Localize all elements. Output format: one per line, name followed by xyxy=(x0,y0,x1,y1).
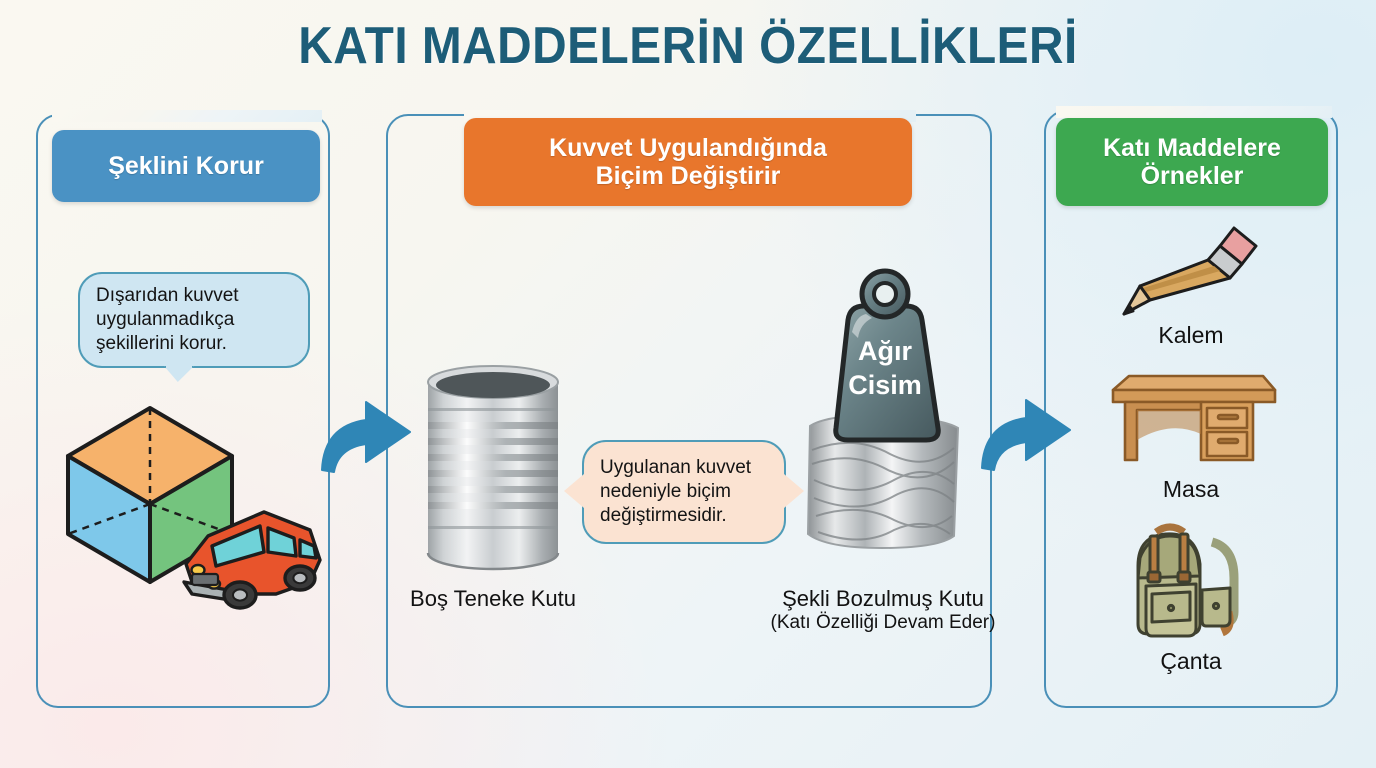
example-item-canta: Çanta xyxy=(1044,520,1338,675)
badge-bicim-degistirir: Kuvvet Uygulandığında Biçim Değiştirir xyxy=(464,118,912,206)
badge-ornekler-line2: Örnekler xyxy=(1103,162,1281,191)
speech-bubble-bicim-degistirir: Uygulanan kuvvet nedeniyle biçim değişti… xyxy=(582,440,786,544)
example-item-kalem: Kalem xyxy=(1044,222,1338,349)
page-title: KATI MADDELERİN ÖZELLİKLERİ xyxy=(55,16,1321,76)
badge-ornekler: Katı Maddelere Örnekler xyxy=(1056,118,1328,206)
label-bos-teneke-kutu-text: Boş Teneke Kutu xyxy=(378,586,608,612)
speech-bubble-sekli-korur: Dışarıdan kuvvet uygulanmadıkça şekiller… xyxy=(78,272,310,368)
badge-ornekler-line1: Katı Maddelere xyxy=(1103,134,1281,163)
example-label-canta: Çanta xyxy=(1044,648,1338,675)
label-bos-teneke-kutu: Boş Teneke Kutu xyxy=(378,586,608,612)
example-label-kalem: Kalem xyxy=(1044,322,1338,349)
speech-bubble-bicim-text: Uygulanan kuvvet nedeniyle biçim değişti… xyxy=(600,456,768,528)
example-label-masa: Masa xyxy=(1044,476,1338,503)
pencil-icon xyxy=(1116,222,1266,320)
panel-1-notch xyxy=(52,110,322,122)
label-sekli-bozulmus-kutu-sub: (Katı Özelliği Devam Eder) xyxy=(742,612,1024,634)
badge-bicim-line1: Kuvvet Uygulandığında xyxy=(549,134,827,163)
example-item-masa: Masa xyxy=(1044,368,1338,503)
weight-label-line2: Cisim xyxy=(848,370,922,400)
panel-3-notch xyxy=(1056,106,1332,118)
tin-can-icon xyxy=(418,360,568,575)
badge-bicim-line2: Biçim Değiştirir xyxy=(549,162,827,191)
arrow-panel2-to-panel3-icon xyxy=(978,390,1074,474)
speech-bubble-sekli-korur-text: Dışarıdan kuvvet uygulanmadıkça şekiller… xyxy=(96,284,292,356)
backpack-icon xyxy=(1116,520,1266,646)
badge-sekli-korur: Şeklini Korur xyxy=(52,130,320,202)
arrow-panel1-to-panel2-icon xyxy=(318,392,414,476)
label-sekli-bozulmus-kutu-text: Şekli Bozulmuş Kutu xyxy=(742,586,1024,612)
desk-icon xyxy=(1103,368,1279,474)
weight-label-line1: Ağır xyxy=(858,336,912,366)
crushed-can-with-weight-icon: Ağır Cisim xyxy=(788,258,978,578)
badge-sekli-korur-label: Şeklini Korur xyxy=(108,152,264,181)
label-sekli-bozulmus-kutu: Şekli Bozulmuş Kutu (Katı Özelliği Devam… xyxy=(742,586,1024,634)
car-icon xyxy=(168,490,338,620)
